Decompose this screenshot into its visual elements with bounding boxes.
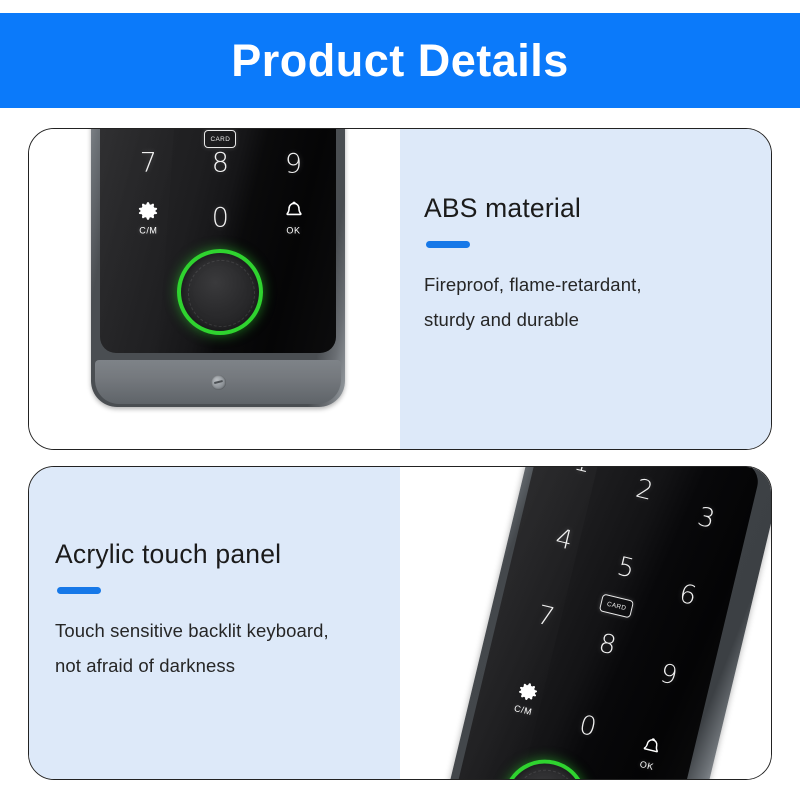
keypad-key-8[interactable]: 8 — [212, 149, 229, 176]
keypad-key-4[interactable]: 4 — [553, 525, 575, 554]
feature-description-line-1: Touch sensitive backlit keyboard, — [55, 620, 329, 641]
feature-description-line-2: not afraid of darkness — [55, 655, 235, 676]
doorbell-confirm-key-label: OK — [283, 226, 305, 235]
keypad-key-0[interactable]: 0 — [212, 204, 229, 231]
feature-description-line-2: sturdy and durable — [424, 309, 579, 330]
keypad-key-0[interactable]: 0 — [577, 712, 599, 741]
product-details-page: Product Details 4 5 6 CARD 7 8 — [0, 0, 800, 788]
keypad-key-3[interactable]: 3 — [695, 504, 717, 533]
fingerprint-sensor[interactable] — [494, 751, 595, 779]
feature-card-acrylic-touch-panel: Acrylic touch panel Touch sensitive back… — [28, 466, 772, 780]
settings-key-label: C/M — [512, 704, 535, 718]
feature-text-abs-material: ABS material Fireproof, flame-retardant,… — [400, 129, 771, 449]
smart-lock-device-tilted: 1 2 3 4 5 6 CARD 7 8 9 — [439, 467, 771, 779]
keypad-key-8[interactable]: 8 — [596, 630, 618, 659]
doorbell-confirm-key-label: OK — [636, 759, 659, 773]
page-header-banner: Product Details — [0, 13, 800, 108]
settings-key-label: C/M — [137, 226, 159, 235]
product-photo-acrylic-touch-panel: 1 2 3 4 5 6 CARD 7 8 9 — [400, 467, 771, 779]
feature-heading: Acrylic touch panel — [55, 539, 400, 569]
fingerprint-sensor[interactable] — [177, 249, 263, 335]
lock-bottom-bezel — [95, 360, 341, 404]
feature-description-line-1: Fireproof, flame-retardant, — [424, 274, 642, 295]
keypad-upright: 4 5 6 CARD 7 8 9 — [100, 129, 336, 353]
settings-key[interactable]: C/M — [137, 200, 159, 235]
screw-icon — [211, 375, 226, 390]
keypad-key-9[interactable]: 9 — [285, 150, 302, 177]
feature-text-acrylic-touch-panel: Acrylic touch panel Touch sensitive back… — [29, 467, 400, 779]
bell-icon — [283, 200, 305, 222]
feature-card-abs-material: 4 5 6 CARD 7 8 9 — [28, 128, 772, 450]
keypad-key-9[interactable]: 9 — [658, 660, 680, 689]
doorbell-confirm-key[interactable]: OK — [283, 200, 305, 235]
keypad-key-6[interactable]: 6 — [677, 581, 699, 610]
card-reader-icon[interactable]: CARD — [599, 594, 634, 619]
lock-glass-panel: 4 5 6 CARD 7 8 9 — [100, 129, 336, 353]
bell-icon — [639, 735, 664, 760]
accent-bar — [57, 587, 101, 594]
page-title: Product Details — [231, 38, 569, 83]
card-reader-icon[interactable]: CARD — [204, 130, 236, 148]
settings-key[interactable]: C/M — [512, 679, 540, 717]
product-photo-abs-material: 4 5 6 CARD 7 8 9 — [29, 129, 400, 449]
feature-heading: ABS material — [424, 193, 771, 223]
gear-icon — [137, 200, 159, 222]
accent-bar — [426, 241, 470, 248]
smart-lock-device-upright: 4 5 6 CARD 7 8 9 — [91, 129, 345, 407]
doorbell-confirm-key[interactable]: OK — [636, 735, 664, 773]
keypad-key-2[interactable]: 2 — [633, 476, 655, 505]
gear-icon — [515, 679, 540, 704]
keypad-key-1[interactable]: 1 — [572, 467, 594, 477]
keypad-key-7[interactable]: 7 — [534, 603, 556, 632]
keypad-key-5[interactable]: 5 — [615, 553, 637, 582]
keypad-key-7[interactable]: 7 — [140, 149, 157, 176]
